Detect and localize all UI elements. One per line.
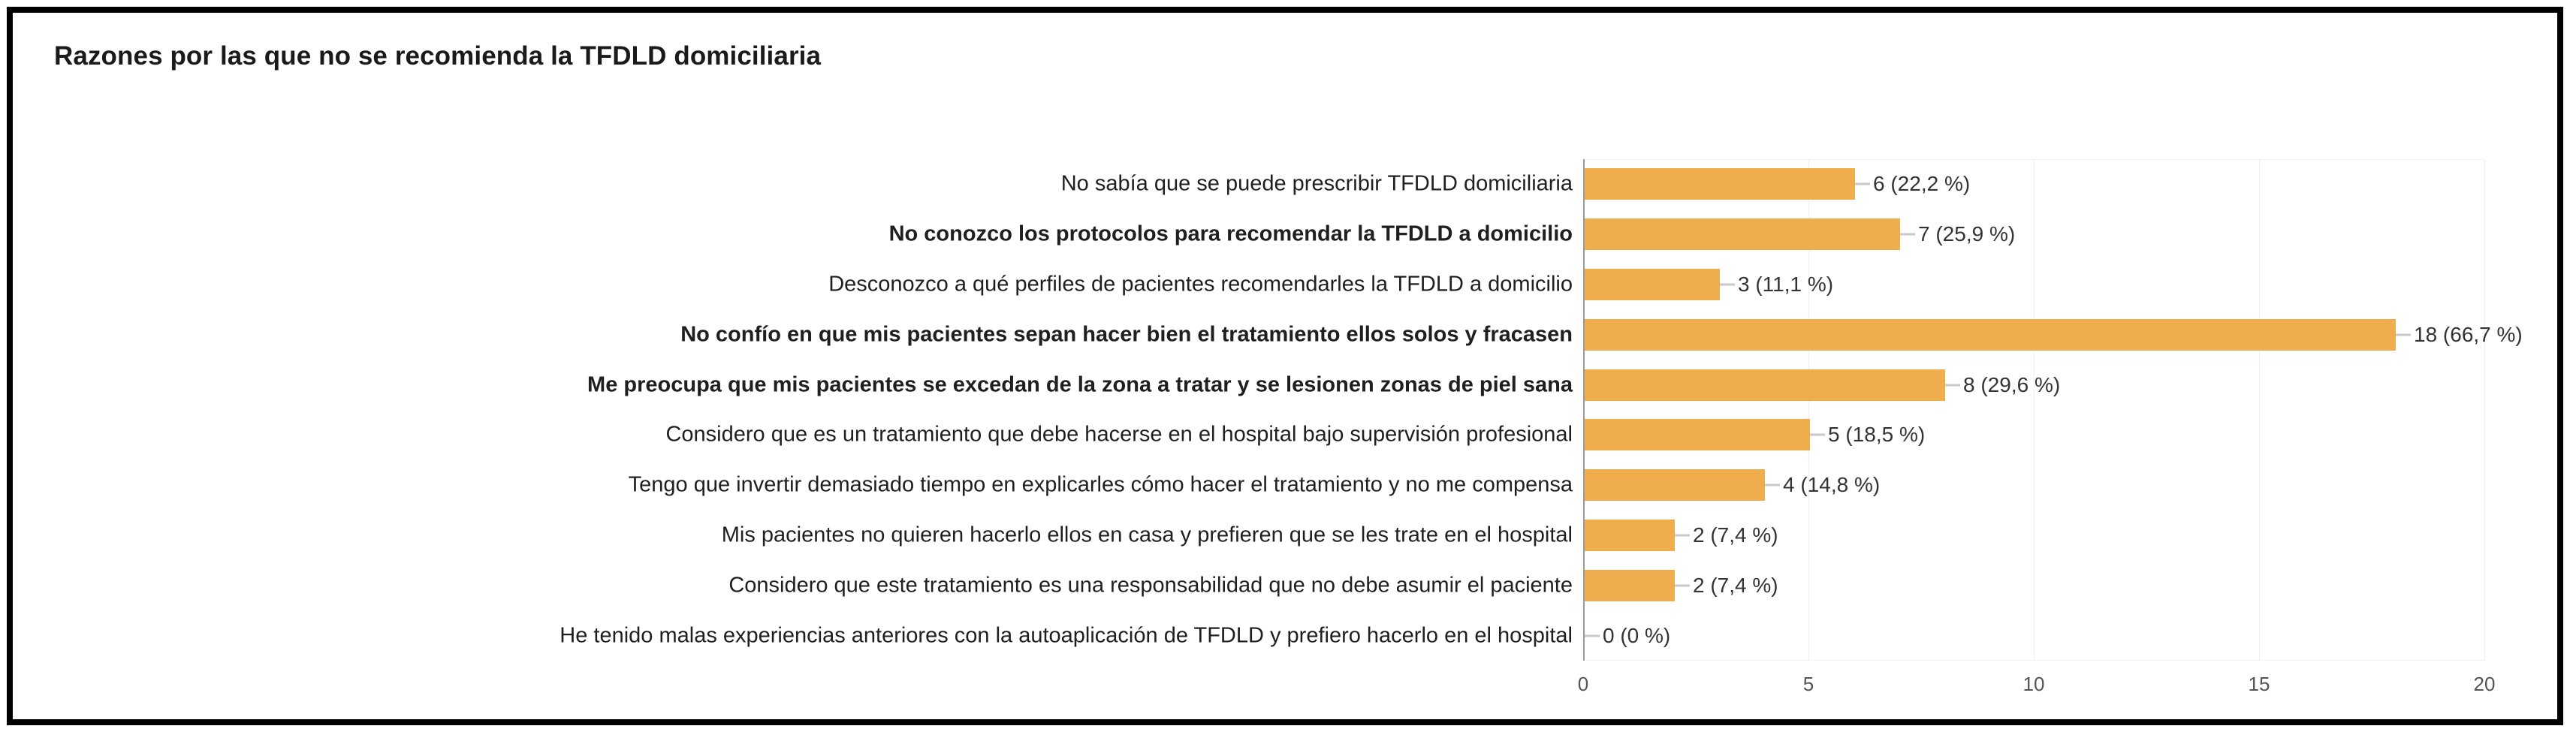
x-tick-label: 10 bbox=[2023, 673, 2045, 696]
bar-value-label: 8 (29,6 %) bbox=[1963, 373, 2060, 397]
leader-line bbox=[1900, 233, 1915, 236]
bar[interactable] bbox=[1585, 469, 1765, 501]
bar[interactable] bbox=[1585, 520, 1675, 551]
chart-row: Considero que es un tratamiento que debe… bbox=[1583, 410, 2484, 460]
category-label: Considero que este tratamiento es una re… bbox=[728, 573, 1573, 598]
bar[interactable] bbox=[1585, 269, 1720, 300]
chart-title: Razones por las que no se recomienda la … bbox=[54, 41, 821, 71]
category-label: No confío en que mis pacientes sepan hac… bbox=[680, 322, 1573, 347]
category-label: Mis pacientes no quieren hacerlo ellos e… bbox=[722, 523, 1573, 547]
axis-line-zero bbox=[1583, 159, 1585, 661]
chart-row: Mis pacientes no quieren hacerlo ellos e… bbox=[1583, 511, 2484, 561]
leader-line bbox=[1675, 584, 1690, 586]
bar-value-label: 2 (7,4 %) bbox=[1693, 523, 1778, 547]
bar-value-label: 3 (11,1 %) bbox=[1738, 273, 1833, 297]
bar[interactable] bbox=[1585, 168, 1855, 200]
category-label: No conozco los protocolos para recomenda… bbox=[889, 222, 1573, 247]
leader-line bbox=[1855, 183, 1870, 185]
bar[interactable] bbox=[1585, 369, 1945, 401]
bar-rows: No sabía que se puede prescribir TFDLD d… bbox=[1583, 159, 2484, 661]
category-label: Tengo que invertir demasiado tiempo en e… bbox=[629, 473, 1573, 498]
chart-row: No confío en que mis pacientes sepan hac… bbox=[1583, 309, 2484, 360]
bar[interactable] bbox=[1585, 570, 1675, 601]
leader-line bbox=[1720, 283, 1735, 285]
plot-area: No sabía que se puede prescribir TFDLD d… bbox=[1583, 159, 2484, 661]
bar-value-label: 4 (14,8 %) bbox=[1783, 473, 1880, 497]
figure-frame: Razones por las que no se recomienda la … bbox=[7, 7, 2563, 725]
leader-line bbox=[1810, 434, 1825, 436]
leader-line bbox=[1945, 384, 1960, 386]
leader-line bbox=[1765, 484, 1780, 486]
bar[interactable] bbox=[1585, 319, 2396, 351]
bar-value-label: 6 (22,2 %) bbox=[1873, 172, 1970, 196]
category-label: Desconozco a qué perfiles de pacientes r… bbox=[828, 272, 1573, 297]
gridline-20 bbox=[2484, 159, 2485, 661]
x-tick-label: 0 bbox=[1578, 673, 1588, 696]
leader-line bbox=[1585, 634, 1600, 637]
bar[interactable] bbox=[1585, 419, 1810, 450]
x-tick-label: 20 bbox=[2474, 673, 2496, 696]
category-label: Considero que es un tratamiento que debe… bbox=[665, 423, 1573, 447]
chart-row: He tenido malas experiencias anteriores … bbox=[1583, 610, 2484, 661]
category-label: Me preocupa que mis pacientes se excedan… bbox=[587, 372, 1573, 397]
chart-row: Me preocupa que mis pacientes se excedan… bbox=[1583, 360, 2484, 410]
chart-row: Tengo que invertir demasiado tiempo en e… bbox=[1583, 460, 2484, 511]
category-label: He tenido malas experiencias anteriores … bbox=[560, 623, 1573, 648]
leader-line bbox=[2396, 333, 2411, 336]
bar-value-label: 18 (66,7 %) bbox=[2414, 323, 2523, 347]
figure-inner: Razones por las que no se recomienda la … bbox=[13, 13, 2557, 719]
chart-row: No sabía que se puede prescribir TFDLD d… bbox=[1583, 159, 2484, 209]
category-label: No sabía que se puede prescribir TFDLD d… bbox=[1061, 172, 1573, 197]
bar-value-label: 5 (18,5 %) bbox=[1828, 423, 1925, 447]
leader-line bbox=[1675, 534, 1690, 536]
bar-value-label: 7 (25,9 %) bbox=[1918, 222, 2015, 246]
chart-row: No conozco los protocolos para recomenda… bbox=[1583, 209, 2484, 260]
chart-row: Considero que este tratamiento es una re… bbox=[1583, 560, 2484, 610]
chart-row: Desconozco a qué perfiles de pacientes r… bbox=[1583, 260, 2484, 310]
x-tick-label: 15 bbox=[2249, 673, 2270, 696]
x-tick-label: 5 bbox=[1803, 673, 1814, 696]
bar-value-label: 0 (0 %) bbox=[1603, 624, 1670, 648]
bar-value-label: 2 (7,4 %) bbox=[1693, 574, 1778, 598]
bar[interactable] bbox=[1585, 218, 1900, 250]
